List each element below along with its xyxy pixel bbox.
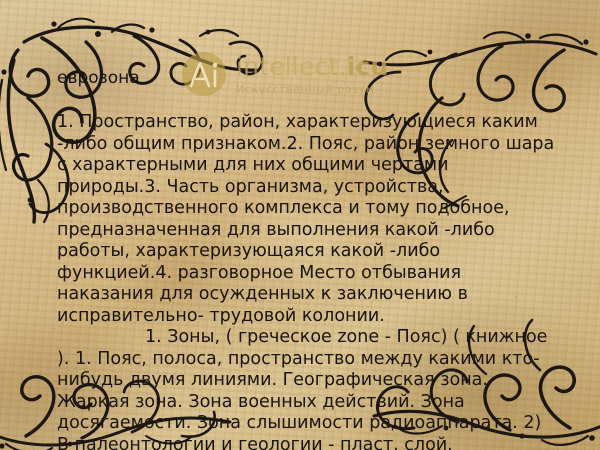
slide-content: еврозона 1. Пространство, район, характе… <box>0 0 600 450</box>
page-title: еврозона <box>57 68 140 88</box>
definition-paragraph-1: 1. Пространство, район, характеризующиес… <box>57 112 554 326</box>
definition-body: 1. Пространство, район, характеризующиес… <box>57 112 557 450</box>
definition-paragraph-2: 1. Зоны, ( греческое zone - Пояс) ( книж… <box>57 327 557 450</box>
slide-canvas: intellect.icu Искусственный разум еврозо… <box>0 0 600 450</box>
